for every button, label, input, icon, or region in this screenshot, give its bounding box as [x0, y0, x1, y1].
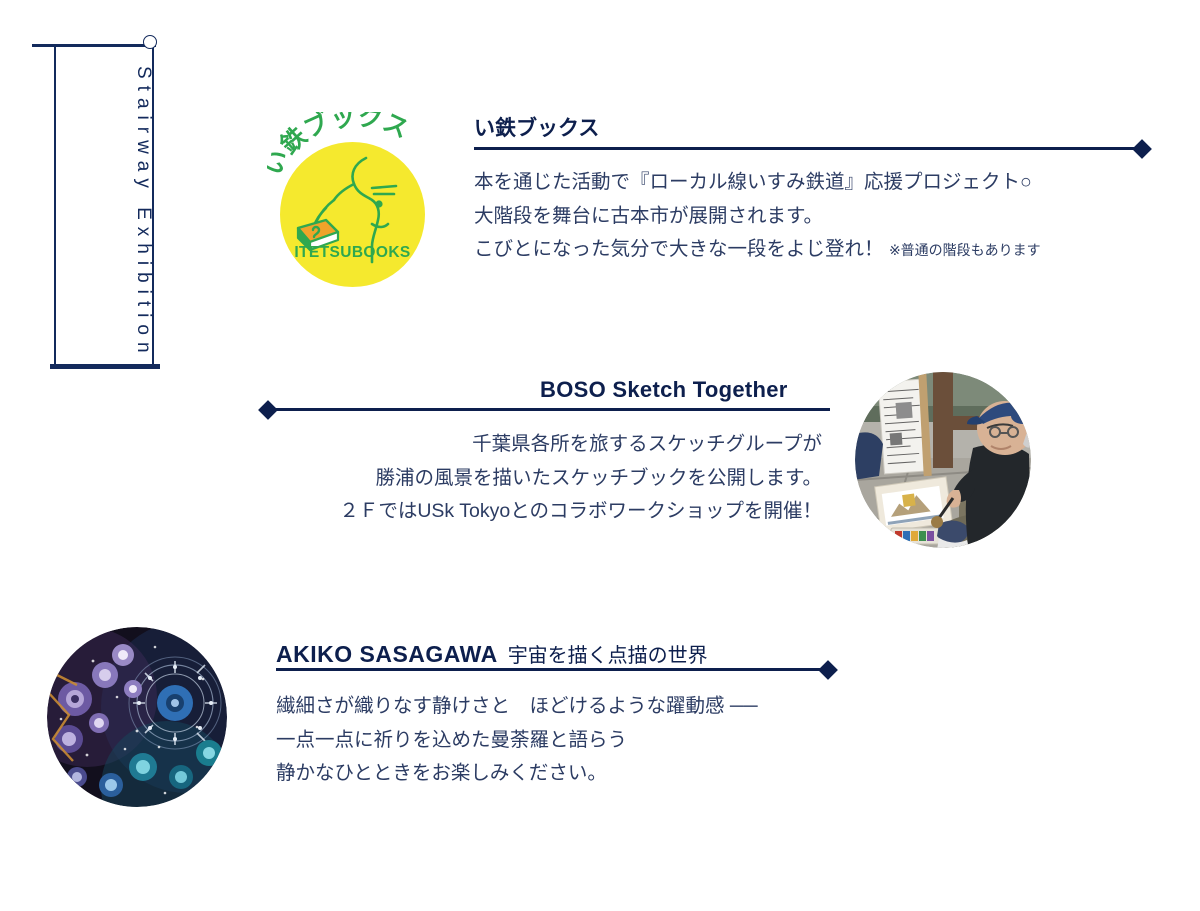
section-subtitle-akiko: 宇宙を描く点描の世界 [508, 645, 708, 667]
rule-diamond-icon [1132, 139, 1152, 159]
logo-wordmark: ITETSUBOOKS [280, 244, 425, 262]
banner-bottom-rule [50, 364, 160, 369]
section-body-akiko: 繊細さが織りなす静けさと ほどけるような躍動感 ── 一点一点に祈りを込めた曼荼… [276, 690, 876, 791]
exhibition-info-page: Stairway Exhibition い鉄ブックス [0, 0, 1200, 911]
rule-diamond-icon [818, 660, 838, 680]
circle-knob-icon [143, 35, 157, 49]
section-heading-akiko: AKIKO SASAGAWA宇宙を描く点描の世界 [276, 639, 708, 668]
mandala-artwork-photo [47, 627, 227, 807]
section-rule-akiko [276, 668, 828, 671]
banner-label: Stairway Exhibition [54, 68, 154, 358]
section-title-itetsubooks: い鉄ブックス [474, 118, 599, 139]
section-rule-itetsubooks [474, 147, 1142, 150]
section-body-itetsubooks: 本を通じた活動で『ローカル線いすみ鉄道』応援プロジェクト○ 大階段を舞台に古本市… [474, 166, 1154, 267]
hand-holding-book-face-icon [280, 142, 425, 287]
body-last-line: こびとになった気分で大きな一段をよじ登れ！ [474, 238, 884, 260]
section-title-akiko-sasagawa: AKIKO SASAGAWA [276, 641, 498, 667]
rule-diamond-icon [258, 400, 278, 420]
section-body-boso: 千葉県各所を旅するスケッチグループが 勝浦の風景を描いたスケッチブックを公開しま… [230, 428, 822, 529]
body-paragraph: 本を通じた活動で『ローカル線いすみ鉄道』応援プロジェクト○ 大階段を舞台に古本市… [474, 171, 1032, 227]
body-note: ※普通の階段もあります [889, 242, 1041, 258]
boso-sketch-photo [855, 372, 1031, 548]
section-title-boso-sketch-together: BOSO Sketch Together [540, 379, 788, 401]
stairway-exhibition-banner: Stairway Exhibition [32, 30, 172, 380]
itetsubooks-logo: い鉄ブックス [267, 112, 439, 288]
section-rule-boso [268, 408, 830, 411]
